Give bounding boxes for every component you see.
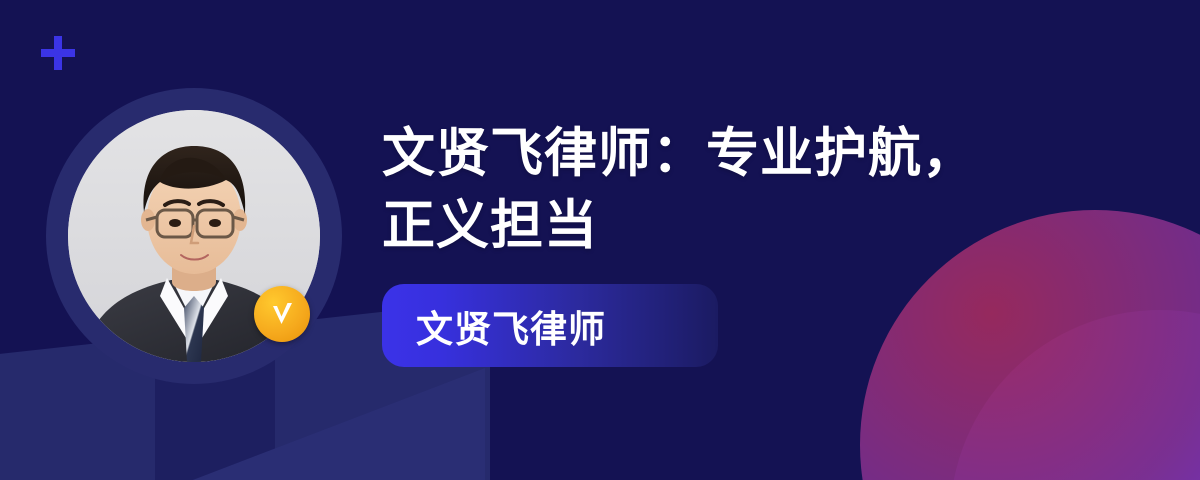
page-title: 文贤飞律师：专业护航， 正义担当 [382, 118, 1082, 262]
polygon-decoration-wedge [185, 368, 485, 480]
plus-icon-bar-vertical [54, 36, 62, 70]
avatar[interactable] [46, 88, 342, 384]
banner-content: 文贤飞律师：专业护航， 正义担当 文贤飞律师 [382, 118, 1082, 367]
lawyer-promo-banner: 文贤飞律师：专业护航， 正义担当 文贤飞律师 [0, 0, 1200, 480]
verified-badge [254, 286, 310, 342]
plus-icon [41, 36, 75, 70]
plus-icon-bar-horizontal [41, 49, 75, 57]
lawyer-name-button[interactable]: 文贤飞律师 [382, 284, 718, 367]
